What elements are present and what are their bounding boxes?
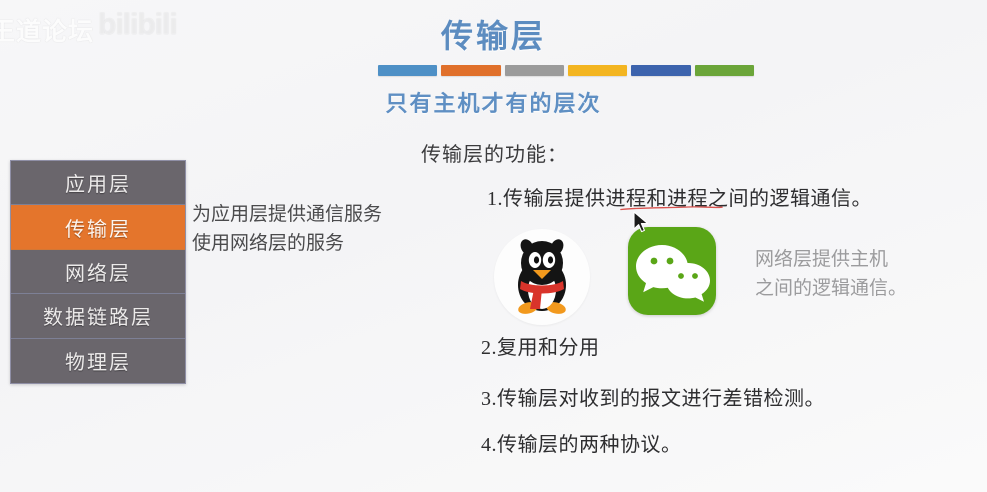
- layer-row-datalink[interactable]: 数据链路层: [11, 294, 185, 338]
- function-item-4: 4.传输层的两种协议。: [481, 428, 682, 457]
- protocol-layer-stack: 应用层 传输层 网络层 数据链路层 物理层: [10, 160, 186, 384]
- slide-canvas: 王道论坛 bilibili 传输层 只有主机才有的层次 应用层 传输层 网络层 …: [0, 0, 987, 492]
- network-layer-note: 网络层提供主机 之间的逻辑通信。: [755, 245, 907, 303]
- page-subtitle: 只有主机才有的层次: [0, 86, 987, 118]
- title-divider-bars: [378, 65, 754, 76]
- divider-bar-blue: [378, 65, 437, 76]
- red-underline-annotation: [620, 206, 723, 211]
- transport-layer-caption: 为应用层提供通信服务 使用网络层的服务: [192, 200, 382, 258]
- wechat-icon[interactable]: [628, 227, 716, 315]
- caption-line-1: 为应用层提供通信服务: [192, 200, 382, 229]
- function-item-3: 3.传输层对收到的报文进行差错检测。: [481, 382, 825, 411]
- page-title: 传输层: [0, 11, 987, 57]
- caption-line-2: 使用网络层的服务: [192, 229, 382, 258]
- divider-bar-green: [695, 65, 754, 76]
- divider-bar-gray: [505, 65, 564, 76]
- function-item-2: 2.复用和分用: [481, 331, 600, 360]
- qq-penguin-icon[interactable]: [494, 229, 590, 325]
- functions-heading: 传输层的功能：: [421, 138, 568, 167]
- layer-row-physical[interactable]: 物理层: [11, 339, 185, 383]
- side-note-line-2: 之间的逻辑通信。: [755, 274, 907, 303]
- side-note-line-1: 网络层提供主机: [755, 245, 907, 274]
- layer-row-application[interactable]: 应用层: [11, 161, 185, 205]
- divider-bar-orange: [441, 65, 500, 76]
- divider-bar-navy: [631, 65, 690, 76]
- layer-row-network[interactable]: 网络层: [11, 250, 185, 294]
- layer-row-transport[interactable]: 传输层: [11, 205, 185, 249]
- divider-bar-yellow: [568, 65, 627, 76]
